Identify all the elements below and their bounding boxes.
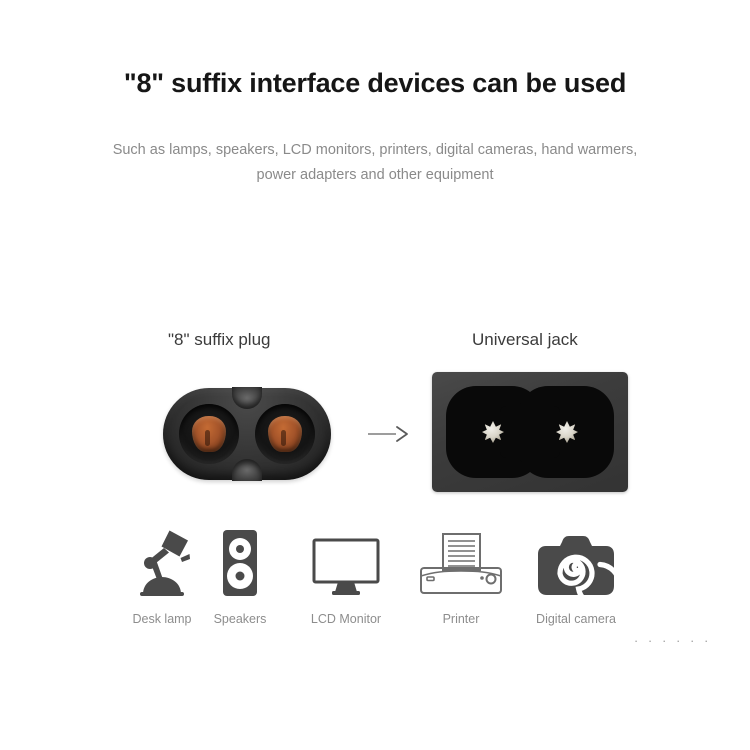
page-root: "8" suffix interface devices can be used… bbox=[0, 0, 750, 750]
camera-icon bbox=[521, 520, 631, 598]
device-item-digital-camera: Digital camera bbox=[521, 520, 631, 626]
page-title: "8" suffix interface devices can be used bbox=[0, 68, 750, 99]
device-item-speakers: Speakers bbox=[185, 520, 295, 626]
device-item-lcd-monitor: LCD Monitor bbox=[291, 520, 401, 626]
device-label: Speakers bbox=[185, 612, 295, 626]
printer-icon bbox=[406, 520, 516, 598]
jack-waist-bridge bbox=[500, 406, 560, 458]
subtitle-line-1: Such as lamps, speakers, LCD monitors, p… bbox=[113, 142, 638, 158]
plug-copper-contact-left bbox=[192, 416, 226, 452]
arrow-right-icon bbox=[366, 425, 412, 443]
plug-waist-notch-bottom bbox=[232, 459, 262, 481]
speaker-icon bbox=[185, 520, 295, 598]
jack-recess bbox=[446, 386, 614, 478]
device-label: Printer bbox=[406, 612, 516, 626]
device-label: LCD Monitor bbox=[291, 612, 401, 626]
comparison-section: "8" suffix plug Universal jack bbox=[0, 330, 750, 510]
page-subtitle: Such as lamps, speakers, LCD monitors, p… bbox=[45, 138, 705, 188]
plug-copper-contact-right bbox=[268, 416, 302, 452]
more-devices-indicator: · · · · · · bbox=[634, 634, 694, 648]
device-item-printer: Printer bbox=[406, 520, 516, 626]
plug-socket-right bbox=[255, 404, 315, 464]
device-label: Digital camera bbox=[521, 612, 631, 626]
universal-jack-image bbox=[432, 372, 628, 492]
device-icon-row: Desk lamp Speakers bbox=[0, 520, 750, 640]
jack-caption: Universal jack bbox=[472, 330, 578, 350]
figure-8-plug-image bbox=[163, 388, 331, 480]
plug-socket-left bbox=[179, 404, 239, 464]
monitor-icon bbox=[291, 520, 401, 598]
plug-caption: "8" suffix plug bbox=[168, 330, 270, 350]
subtitle-line-2: power adapters and other equipment bbox=[45, 163, 705, 188]
